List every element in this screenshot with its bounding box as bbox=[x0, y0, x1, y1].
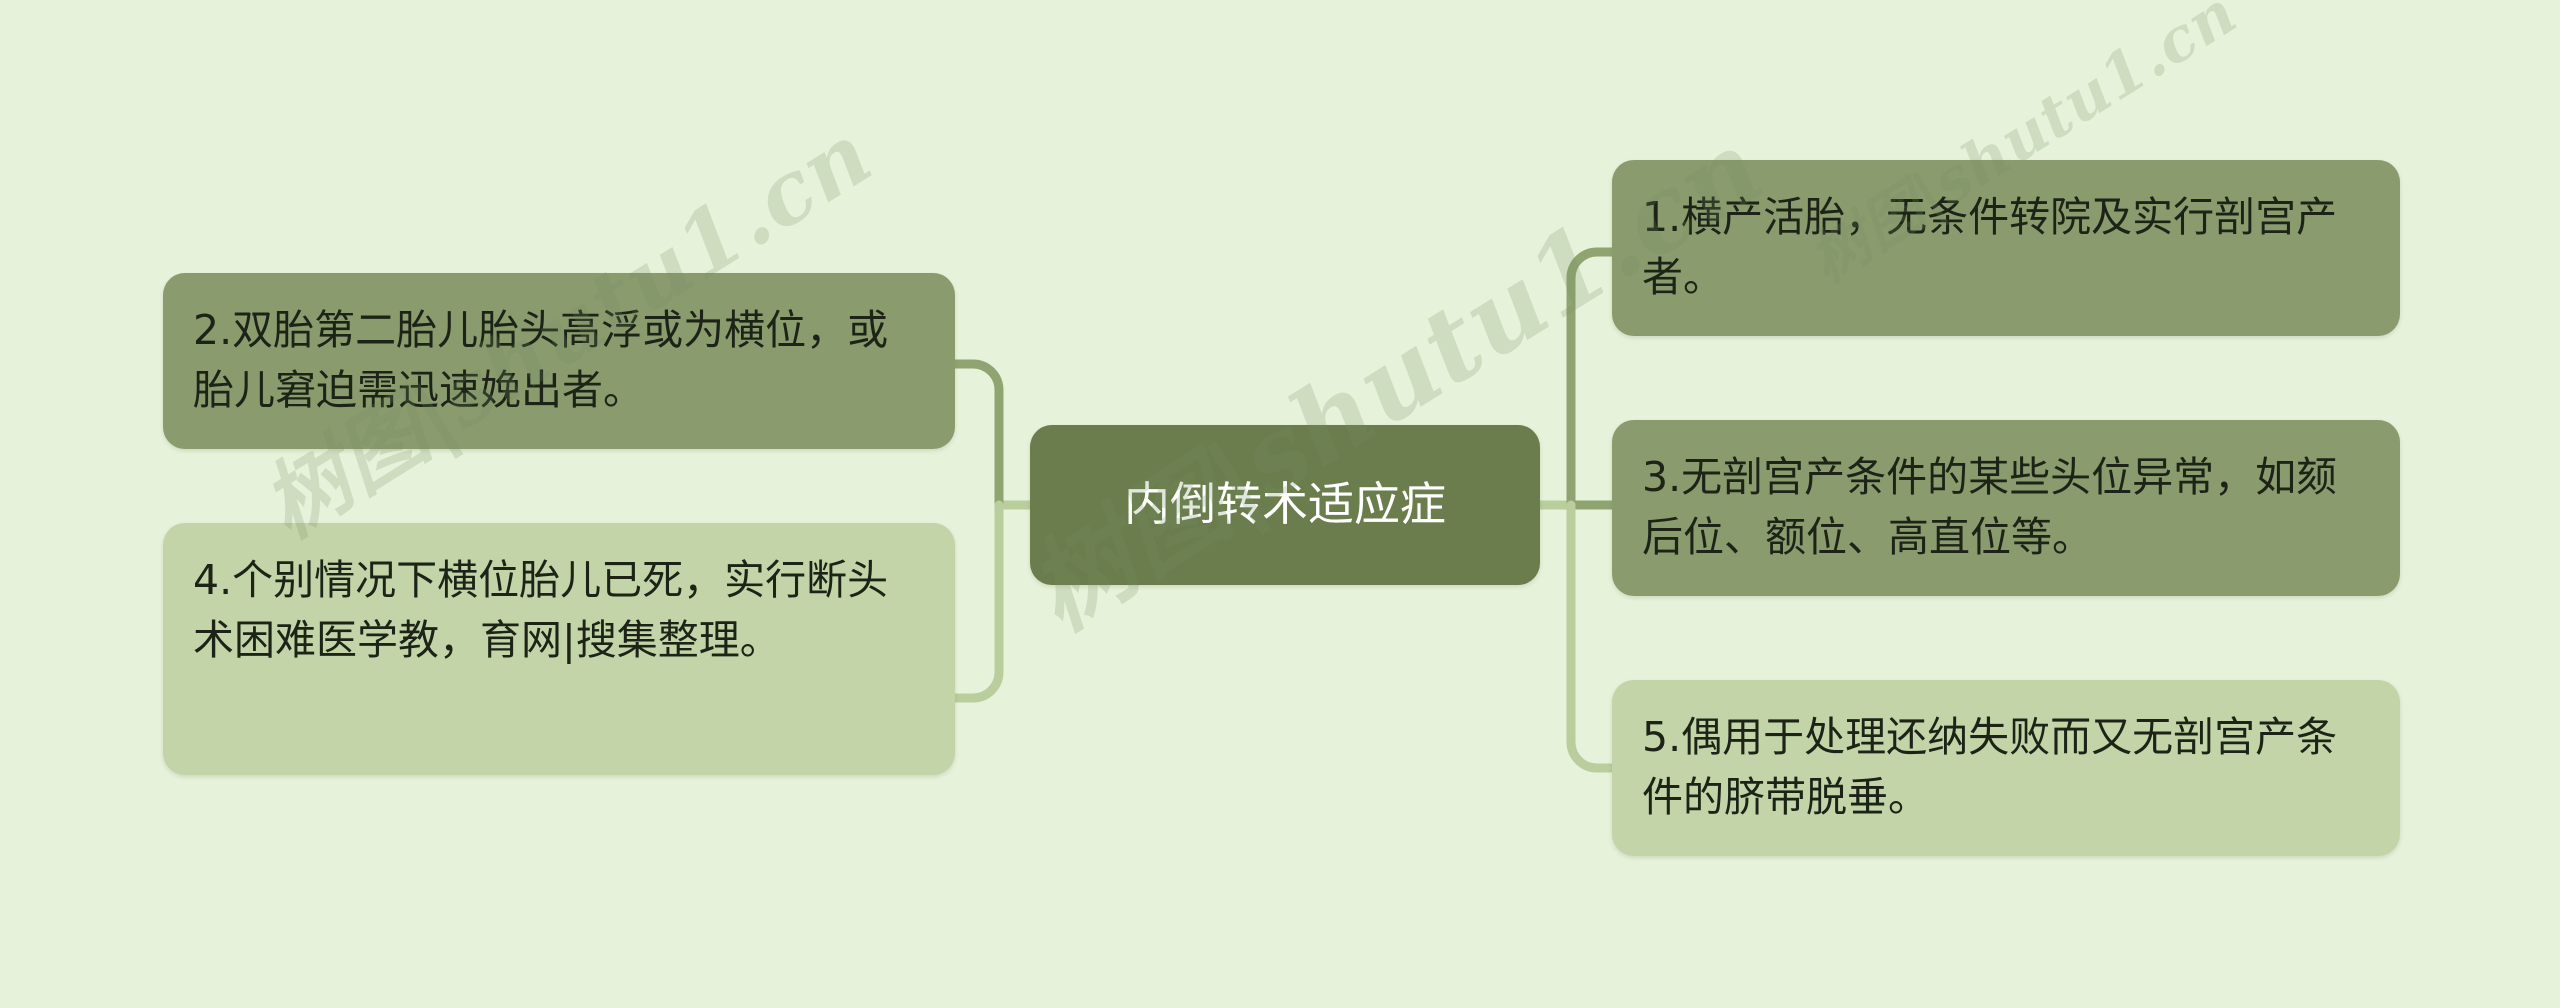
connector-root-to-n1 bbox=[1571, 252, 1612, 505]
branch-node-1-label: 1.横产活胎，无条件转院及实行剖宫产者。 bbox=[1642, 186, 2370, 308]
branch-node-2-label: 2.双胎第二胎儿胎头高浮或为横位，或胎儿窘迫需迅速娩出者。 bbox=[193, 299, 925, 421]
branch-node-1[interactable]: 1.横产活胎，无条件转院及实行剖宫产者。 bbox=[1612, 160, 2400, 336]
branch-node-4-label: 4.个别情况下横位胎儿已死，实行断头术困难医学教，育网|搜集整理。 bbox=[193, 549, 925, 671]
root-node-label: 内倒转术适应症 bbox=[1030, 471, 1540, 538]
connector-root-to-n4 bbox=[955, 505, 999, 698]
connector-root-to-n5 bbox=[1571, 505, 1612, 768]
branch-node-5[interactable]: 5.偶用于处理还纳失败而又无剖宫产条件的脐带脱垂。 bbox=[1612, 680, 2400, 856]
root-node[interactable]: 内倒转术适应症 bbox=[1030, 425, 1540, 585]
branch-node-4[interactable]: 4.个别情况下横位胎儿已死，实行断头术困难医学教，育网|搜集整理。 bbox=[163, 523, 955, 775]
branch-node-3[interactable]: 3.无剖宫产条件的某些头位异常，如颏后位、额位、高直位等。 bbox=[1612, 420, 2400, 596]
connector-root-to-n2 bbox=[955, 364, 999, 505]
mindmap-canvas: 内倒转术适应症 1.横产活胎，无条件转院及实行剖宫产者。 3.无剖宫产条件的某些… bbox=[0, 0, 2560, 1008]
branch-node-3-label: 3.无剖宫产条件的某些头位异常，如颏后位、额位、高直位等。 bbox=[1642, 446, 2370, 568]
branch-node-5-label: 5.偶用于处理还纳失败而又无剖宫产条件的脐带脱垂。 bbox=[1642, 706, 2370, 828]
branch-node-2[interactable]: 2.双胎第二胎儿胎头高浮或为横位，或胎儿窘迫需迅速娩出者。 bbox=[163, 273, 955, 449]
